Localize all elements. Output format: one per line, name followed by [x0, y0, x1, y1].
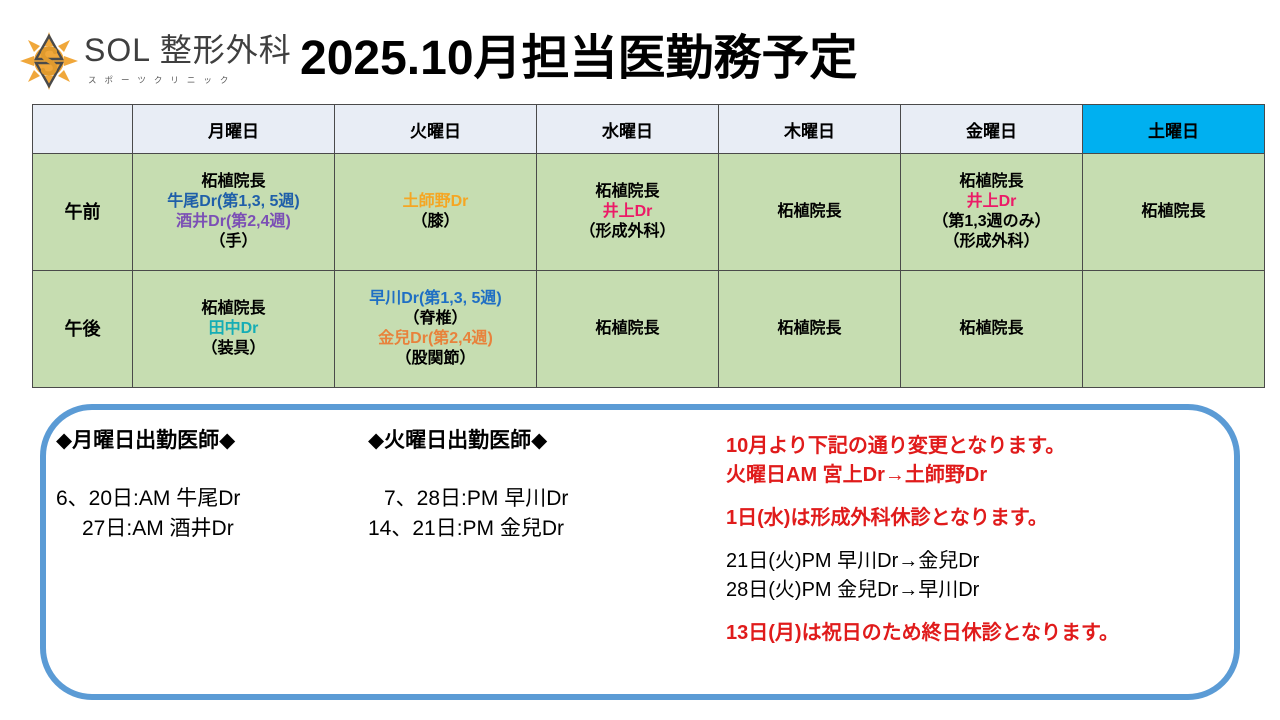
cell-am-tuesday: 土師野Dr（膝）	[335, 154, 537, 271]
schedule-entry: （手）	[135, 232, 332, 252]
cell-pm-friday: 柘植院長	[901, 271, 1083, 388]
change-notice-5: 28日(火)PM 金兒Dr→早川Dr	[726, 576, 1236, 605]
schedule-entry: 田中Dr	[135, 319, 332, 339]
monday-note-line-2: 27日:AM 酒井Dr	[56, 514, 386, 544]
schedule-table: 月曜日 火曜日 水曜日 木曜日 金曜日 土曜日 午前 柘植院長牛尾Dr(第1,3…	[32, 104, 1265, 388]
schedule-entry: （脊椎）	[337, 309, 534, 329]
schedule-entry: 早川Dr(第1,3, 5週)	[337, 289, 534, 309]
schedule-entry: 柘植院長	[721, 319, 898, 339]
notice-spacer-2	[726, 533, 1236, 547]
cell-pm-tuesday: 早川Dr(第1,3, 5週)（脊椎）金兒Dr(第2,4週)（股関節）	[335, 271, 537, 388]
change-notice-2: 火曜日AM 宮上Dr→土師野Dr	[726, 461, 1236, 490]
table-corner-cell	[33, 105, 133, 154]
change-notice-3: 1日(水)は形成外科休診となります。	[726, 504, 1236, 533]
schedule-entry: 柘植院長	[135, 299, 332, 319]
schedule-entry: （装具）	[135, 339, 332, 359]
tuesday-note-line-2: 14、21日:PM 金兒Dr	[368, 514, 698, 544]
cell-pm-saturday	[1083, 271, 1265, 388]
clinic-logo: SOL 整形外科 スポーツクリニック	[12, 26, 282, 96]
notice-spacer-3	[726, 605, 1236, 619]
tuesday-doctors-note: ◆火曜日出勤医師◆ 7、28日:PM 早川Dr 14、21日:PM 金兒Dr	[368, 428, 698, 544]
schedule-entry: 牛尾Dr(第1,3, 5週)	[135, 192, 332, 212]
day-header-thursday: 木曜日	[719, 105, 901, 154]
tuesday-note-heading: ◆火曜日出勤医師◆	[368, 428, 698, 454]
schedule-entry: （股関節）	[337, 349, 534, 369]
schedule-page: SOL 整形外科 スポーツクリニック 2025.10月担当医勤務予定 月曜日 火…	[0, 0, 1280, 720]
change-notice-1: 10月より下記の通り変更となります。	[726, 432, 1236, 461]
schedule-entry: 金兒Dr(第2,4週)	[337, 329, 534, 349]
sun-star-logo-icon	[18, 30, 80, 92]
day-header-wednesday: 水曜日	[537, 105, 719, 154]
table-row-am: 午前 柘植院長牛尾Dr(第1,3, 5週)酒井Dr(第2,4週)（手） 土師野D…	[33, 154, 1265, 271]
schedule-entry: 柘植院長	[539, 319, 716, 339]
schedule-entry: 井上Dr	[539, 202, 716, 222]
schedule-entry: 井上Dr	[903, 192, 1080, 212]
page-header: SOL 整形外科 スポーツクリニック 2025.10月担当医勤務予定	[0, 0, 1280, 100]
cell-am-thursday: 柘植院長	[719, 154, 901, 271]
day-header-friday: 金曜日	[901, 105, 1083, 154]
clinic-brand-name: SOL 整形外科	[84, 28, 284, 72]
schedule-entry: （形成外科）	[903, 232, 1080, 252]
change-notice-4: 21日(火)PM 早川Dr→金兒Dr	[726, 547, 1236, 576]
notice-spacer-1	[726, 490, 1236, 504]
change-notice-6: 13日(月)は祝日のため終日休診となります。	[726, 619, 1236, 648]
cell-am-monday: 柘植院長牛尾Dr(第1,3, 5週)酒井Dr(第2,4週)（手）	[133, 154, 335, 271]
day-header-monday: 月曜日	[133, 105, 335, 154]
schedule-entry: 柘植院長	[903, 319, 1080, 339]
day-header-tuesday: 火曜日	[335, 105, 537, 154]
schedule-entry: 土師野Dr	[337, 192, 534, 212]
cell-pm-monday: 柘植院長田中Dr（装具）	[133, 271, 335, 388]
schedule-entry: 柘植院長	[1085, 202, 1262, 222]
schedule-entry: 柘植院長	[903, 172, 1080, 192]
table-header-row: 月曜日 火曜日 水曜日 木曜日 金曜日 土曜日	[33, 105, 1265, 154]
schedule-entry: 柘植院長	[135, 172, 332, 192]
cell-am-friday: 柘植院長井上Dr（第1,3週のみ）（形成外科）	[901, 154, 1083, 271]
day-header-saturday: 土曜日	[1083, 105, 1265, 154]
period-label-am: 午前	[33, 154, 133, 271]
cell-pm-wednesday: 柘植院長	[537, 271, 719, 388]
schedule-entry: （膝）	[337, 212, 534, 232]
schedule-entry: （第1,3週のみ）	[903, 212, 1080, 232]
schedule-entry: （形成外科）	[539, 222, 716, 242]
table-row-pm: 午後 柘植院長田中Dr（装具） 早川Dr(第1,3, 5週)（脊椎）金兒Dr(第…	[33, 271, 1265, 388]
monday-doctors-note: ◆月曜日出勤医師◆ 6、20日:AM 牛尾Dr 27日:AM 酒井Dr	[56, 428, 386, 544]
monday-note-line-1: 6、20日:AM 牛尾Dr	[56, 484, 386, 514]
cell-am-wednesday: 柘植院長井上Dr（形成外科）	[537, 154, 719, 271]
monday-note-heading: ◆月曜日出勤医師◆	[56, 428, 386, 454]
cell-am-saturday: 柘植院長	[1083, 154, 1265, 271]
clinic-brand-subtitle: スポーツクリニック	[88, 74, 288, 86]
schedule-entry: 酒井Dr(第2,4週)	[135, 212, 332, 232]
change-notices: 10月より下記の通り変更となります。 火曜日AM 宮上Dr→土師野Dr 1日(水…	[726, 432, 1236, 648]
period-label-pm: 午後	[33, 271, 133, 388]
cell-pm-thursday: 柘植院長	[719, 271, 901, 388]
page-title: 2025.10月担当医勤務予定	[300, 28, 1000, 90]
schedule-entry: 柘植院長	[721, 202, 898, 222]
schedule-entry: 柘植院長	[539, 182, 716, 202]
tuesday-note-line-1: 7、28日:PM 早川Dr	[368, 484, 698, 514]
